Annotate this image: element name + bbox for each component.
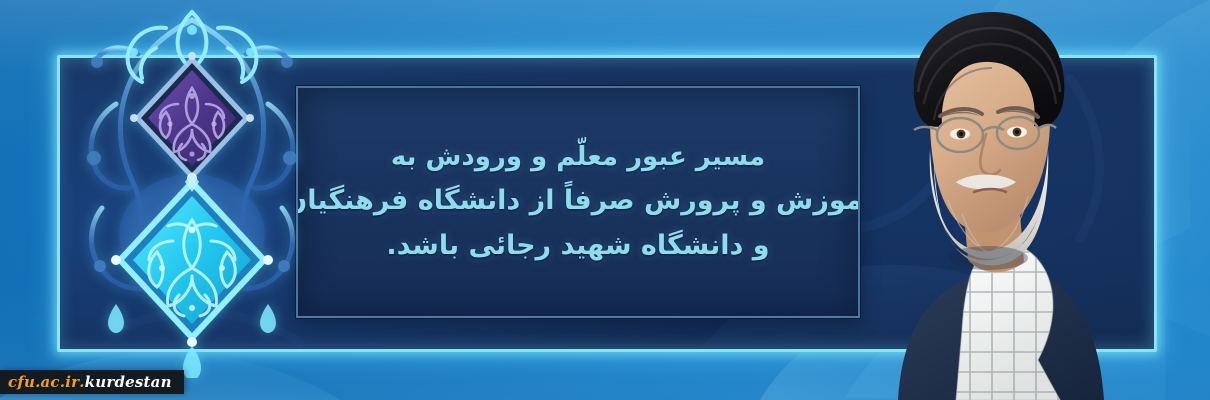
leader-portrait-photo: [878, 0, 1114, 400]
watermark-site-domain: .cfu.ac.ir: [8, 373, 85, 391]
quote-line-2: آموزش و پرورش صرفاً از دانشگاه فرهنگیان: [296, 180, 860, 223]
quote-line-1: مسیر عبور معلّم و ورودش به: [391, 137, 765, 178]
site-watermark[interactable]: kurdestan.cfu.ac.ir: [0, 370, 184, 394]
quote-panel: مسیر عبور معلّم و ورودش به آموزش و پرورش…: [296, 86, 860, 318]
quote-line-3: و دانشگاه شهید رجائی باشد.: [386, 225, 769, 268]
watermark-site-name: kurdestan: [85, 373, 172, 391]
banner-stage: مسیر عبور معلّم و ورودش به آموزش و پرورش…: [0, 0, 1210, 400]
